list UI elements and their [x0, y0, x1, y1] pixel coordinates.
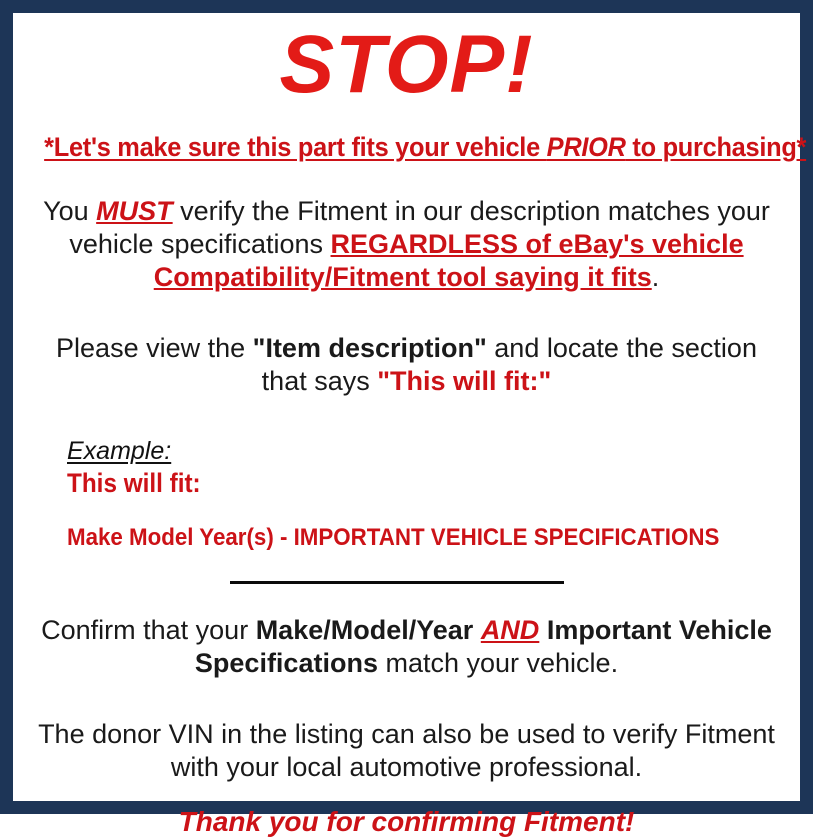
notice-content: STOP! *Let's make sure this part fits yo…: [13, 22, 800, 810]
subtitle-prefix: *Let's make sure this part fits your veh…: [44, 132, 547, 162]
subtitle-emphasis: PRIOR: [547, 132, 626, 162]
must-text-end: .: [652, 262, 660, 292]
divider-rule: [230, 581, 564, 584]
paragraph-donor-vin: The donor VIN in the listing can also be…: [21, 718, 792, 784]
paragraph-confirm: Confirm that your Make/Model/Year AND Im…: [21, 614, 792, 680]
subtitle-suffix: to purchasing*: [626, 132, 806, 162]
and-emphasis: AND: [481, 615, 540, 645]
example-label: Example:: [67, 438, 171, 465]
paragraph-must-verify: You MUST verify the Fitment in our descr…: [21, 195, 792, 294]
example-block: Example: This will fit: Make Model Year(…: [21, 438, 792, 551]
subtitle-line: *Let's make sure this part fits your veh…: [44, 132, 769, 162]
example-this-will-fit: This will fit:: [67, 468, 720, 498]
please-text-lead: Please view the: [56, 333, 253, 363]
confirm-text-end: match your vehicle.: [378, 648, 618, 678]
confirm-text-lead: Confirm that your: [41, 615, 256, 645]
stop-heading: STOP!: [21, 22, 792, 108]
thank-you-line: Thank you for confirming Fitment!: [21, 806, 792, 838]
this-will-fit-quote: "This will fit:": [377, 366, 551, 396]
example-spec-line: Make Model Year(s) - IMPORTANT VEHICLE S…: [67, 524, 741, 551]
divider: [21, 577, 792, 589]
make-model-year-label: Make/Model/Year: [256, 615, 474, 645]
must-emphasis: MUST: [96, 196, 173, 226]
must-text-lead: You: [43, 196, 96, 226]
item-description-label: "Item description": [253, 333, 487, 363]
fitment-notice-card: STOP! *Let's make sure this part fits yo…: [0, 0, 813, 814]
paragraph-item-description: Please view the "Item description" and l…: [21, 332, 792, 398]
